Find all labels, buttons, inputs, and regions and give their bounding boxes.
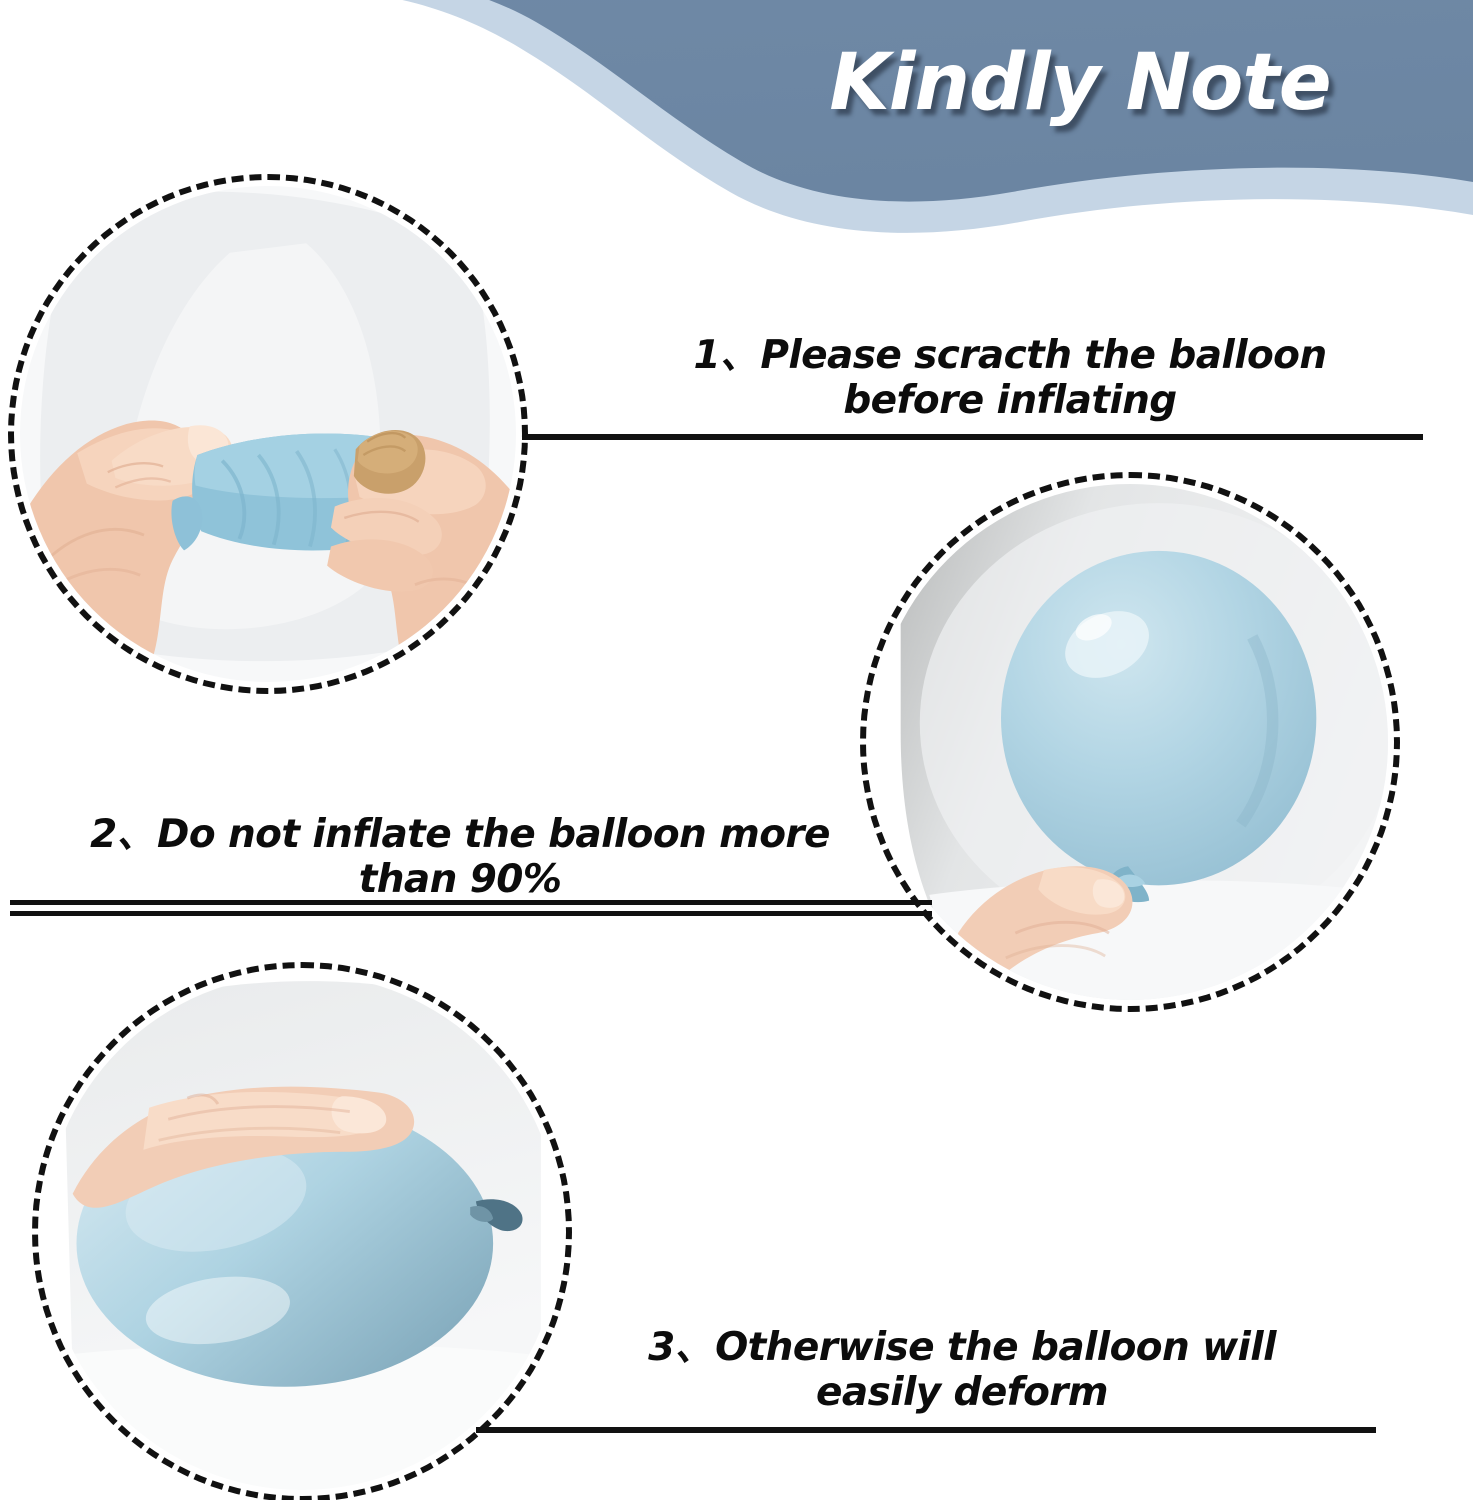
kindly-note-infographic: Kindly Note [0,0,1473,1500]
connector-line-step-3 [476,1427,1376,1433]
caption-step-2: 2、Do not inflate the balloon more than 9… [60,812,860,902]
step-number-3: 3、 [648,1325,713,1370]
step-number-2: 2、 [90,812,155,857]
photo-circle-step-1 [8,174,528,694]
photo-circle-step-2 [860,472,1400,1012]
caption-step-2-line1: 2、Do not inflate the balloon more [90,812,830,857]
caption-step-1-text1: Please scracth the balloon [760,333,1326,378]
step-number-1: 1、 [693,333,758,378]
caption-step-1-line1: 1、Please scracth the balloon [693,333,1326,378]
caption-step-2-text1: Do not inflate the balloon more [157,812,830,857]
caption-step-2-text2: than 90% [359,857,562,902]
caption-step-3-text1: Otherwise the balloon will [715,1325,1276,1370]
caption-step-3: 3、Otherwise the balloon will easily defo… [592,1325,1332,1415]
connector-line-step-2-lower [10,911,932,916]
photo-step-3-image [44,974,560,1490]
caption-step-3-text2: easily deform [816,1370,1108,1415]
connector-line-step-2 [10,900,932,918]
photo-circle-step-3 [32,962,572,1500]
caption-step-1-text2: before inflating [843,378,1176,423]
connector-line-step-1 [522,434,1423,440]
page-title: Kindly Note [770,38,1390,128]
caption-step-3-line1: 3、Otherwise the balloon will [648,1325,1276,1370]
photo-step-2-image [872,484,1388,1000]
caption-step-1: 1、Please scracth the balloon before infl… [640,333,1380,423]
photo-step-1-image [20,186,516,682]
